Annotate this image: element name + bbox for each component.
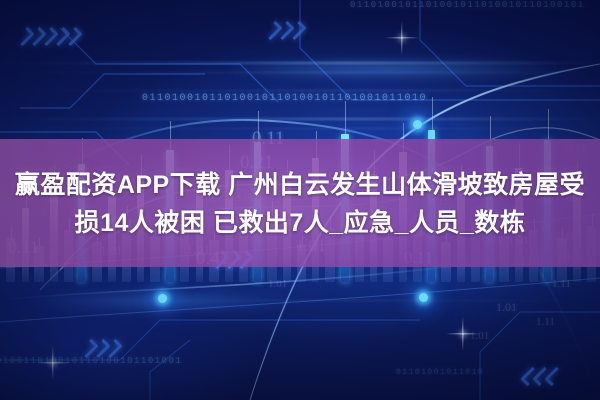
headline-line-2: 损14人被困 已救出7人_应急_人员_数栋	[6, 204, 594, 242]
headline-line-1: 赢盈配资APP下载 广州白云发生山体滑坡致房屋受	[6, 166, 594, 204]
news-banner-image: 0.110.210.111.011.010.411.010.111.011.11…	[0, 0, 600, 400]
headline-text: 赢盈配资APP下载 广州白云发生山体滑坡致房屋受 损14人被困 已救出7人_应急…	[0, 166, 600, 242]
